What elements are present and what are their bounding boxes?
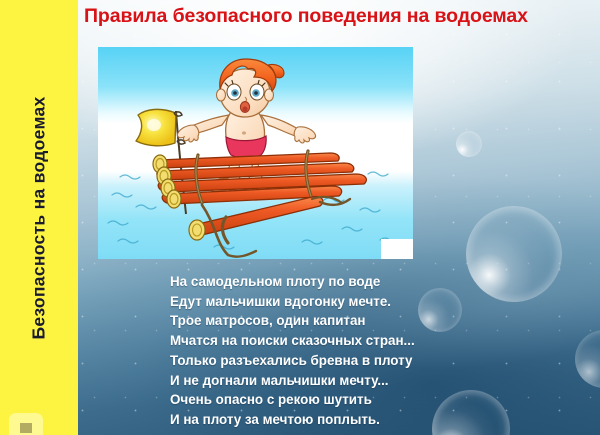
sidebar: Безопасность на водоемах <box>0 0 78 435</box>
bubble-medium-icon <box>432 390 510 435</box>
placeholder-square-icon <box>20 423 32 433</box>
image-corner-notch <box>381 239 413 259</box>
poem-line: На самодельном плоту по воде <box>170 272 415 292</box>
sidebar-vertical-label: Безопасность на водоемах <box>29 96 50 339</box>
slide-canvas: Правила безопасного поведения на водоема… <box>0 0 600 435</box>
bubble-edge-icon <box>575 330 600 388</box>
poem-block: На самодельном плоту по воде Едут мальчи… <box>170 272 415 430</box>
bubble-small-icon <box>456 131 482 157</box>
poem-line: Мчатся на поиски сказочных стран... <box>170 331 415 351</box>
page-title: Правила безопасного поведения на водоема… <box>84 5 596 28</box>
illustration-image <box>98 47 413 259</box>
poem-line: Только разъехались бревна в плоту <box>170 351 415 371</box>
poem-line: Трое матросов, один капитан <box>170 311 415 331</box>
poem-line: Очень опасно с рекою шутить <box>170 390 415 410</box>
poem-line: И не догнали мальчишки мечту... <box>170 371 415 391</box>
bubble-large-icon <box>466 206 562 302</box>
illustration-artwork <box>98 47 413 259</box>
poem-line: И на плоту за мечтою поплыть. <box>170 410 415 430</box>
sidebar-badge <box>9 413 43 435</box>
poem-line: Едут мальчишки вдогонку мечте. <box>170 292 415 312</box>
bubble-tiny-icon <box>418 288 462 332</box>
